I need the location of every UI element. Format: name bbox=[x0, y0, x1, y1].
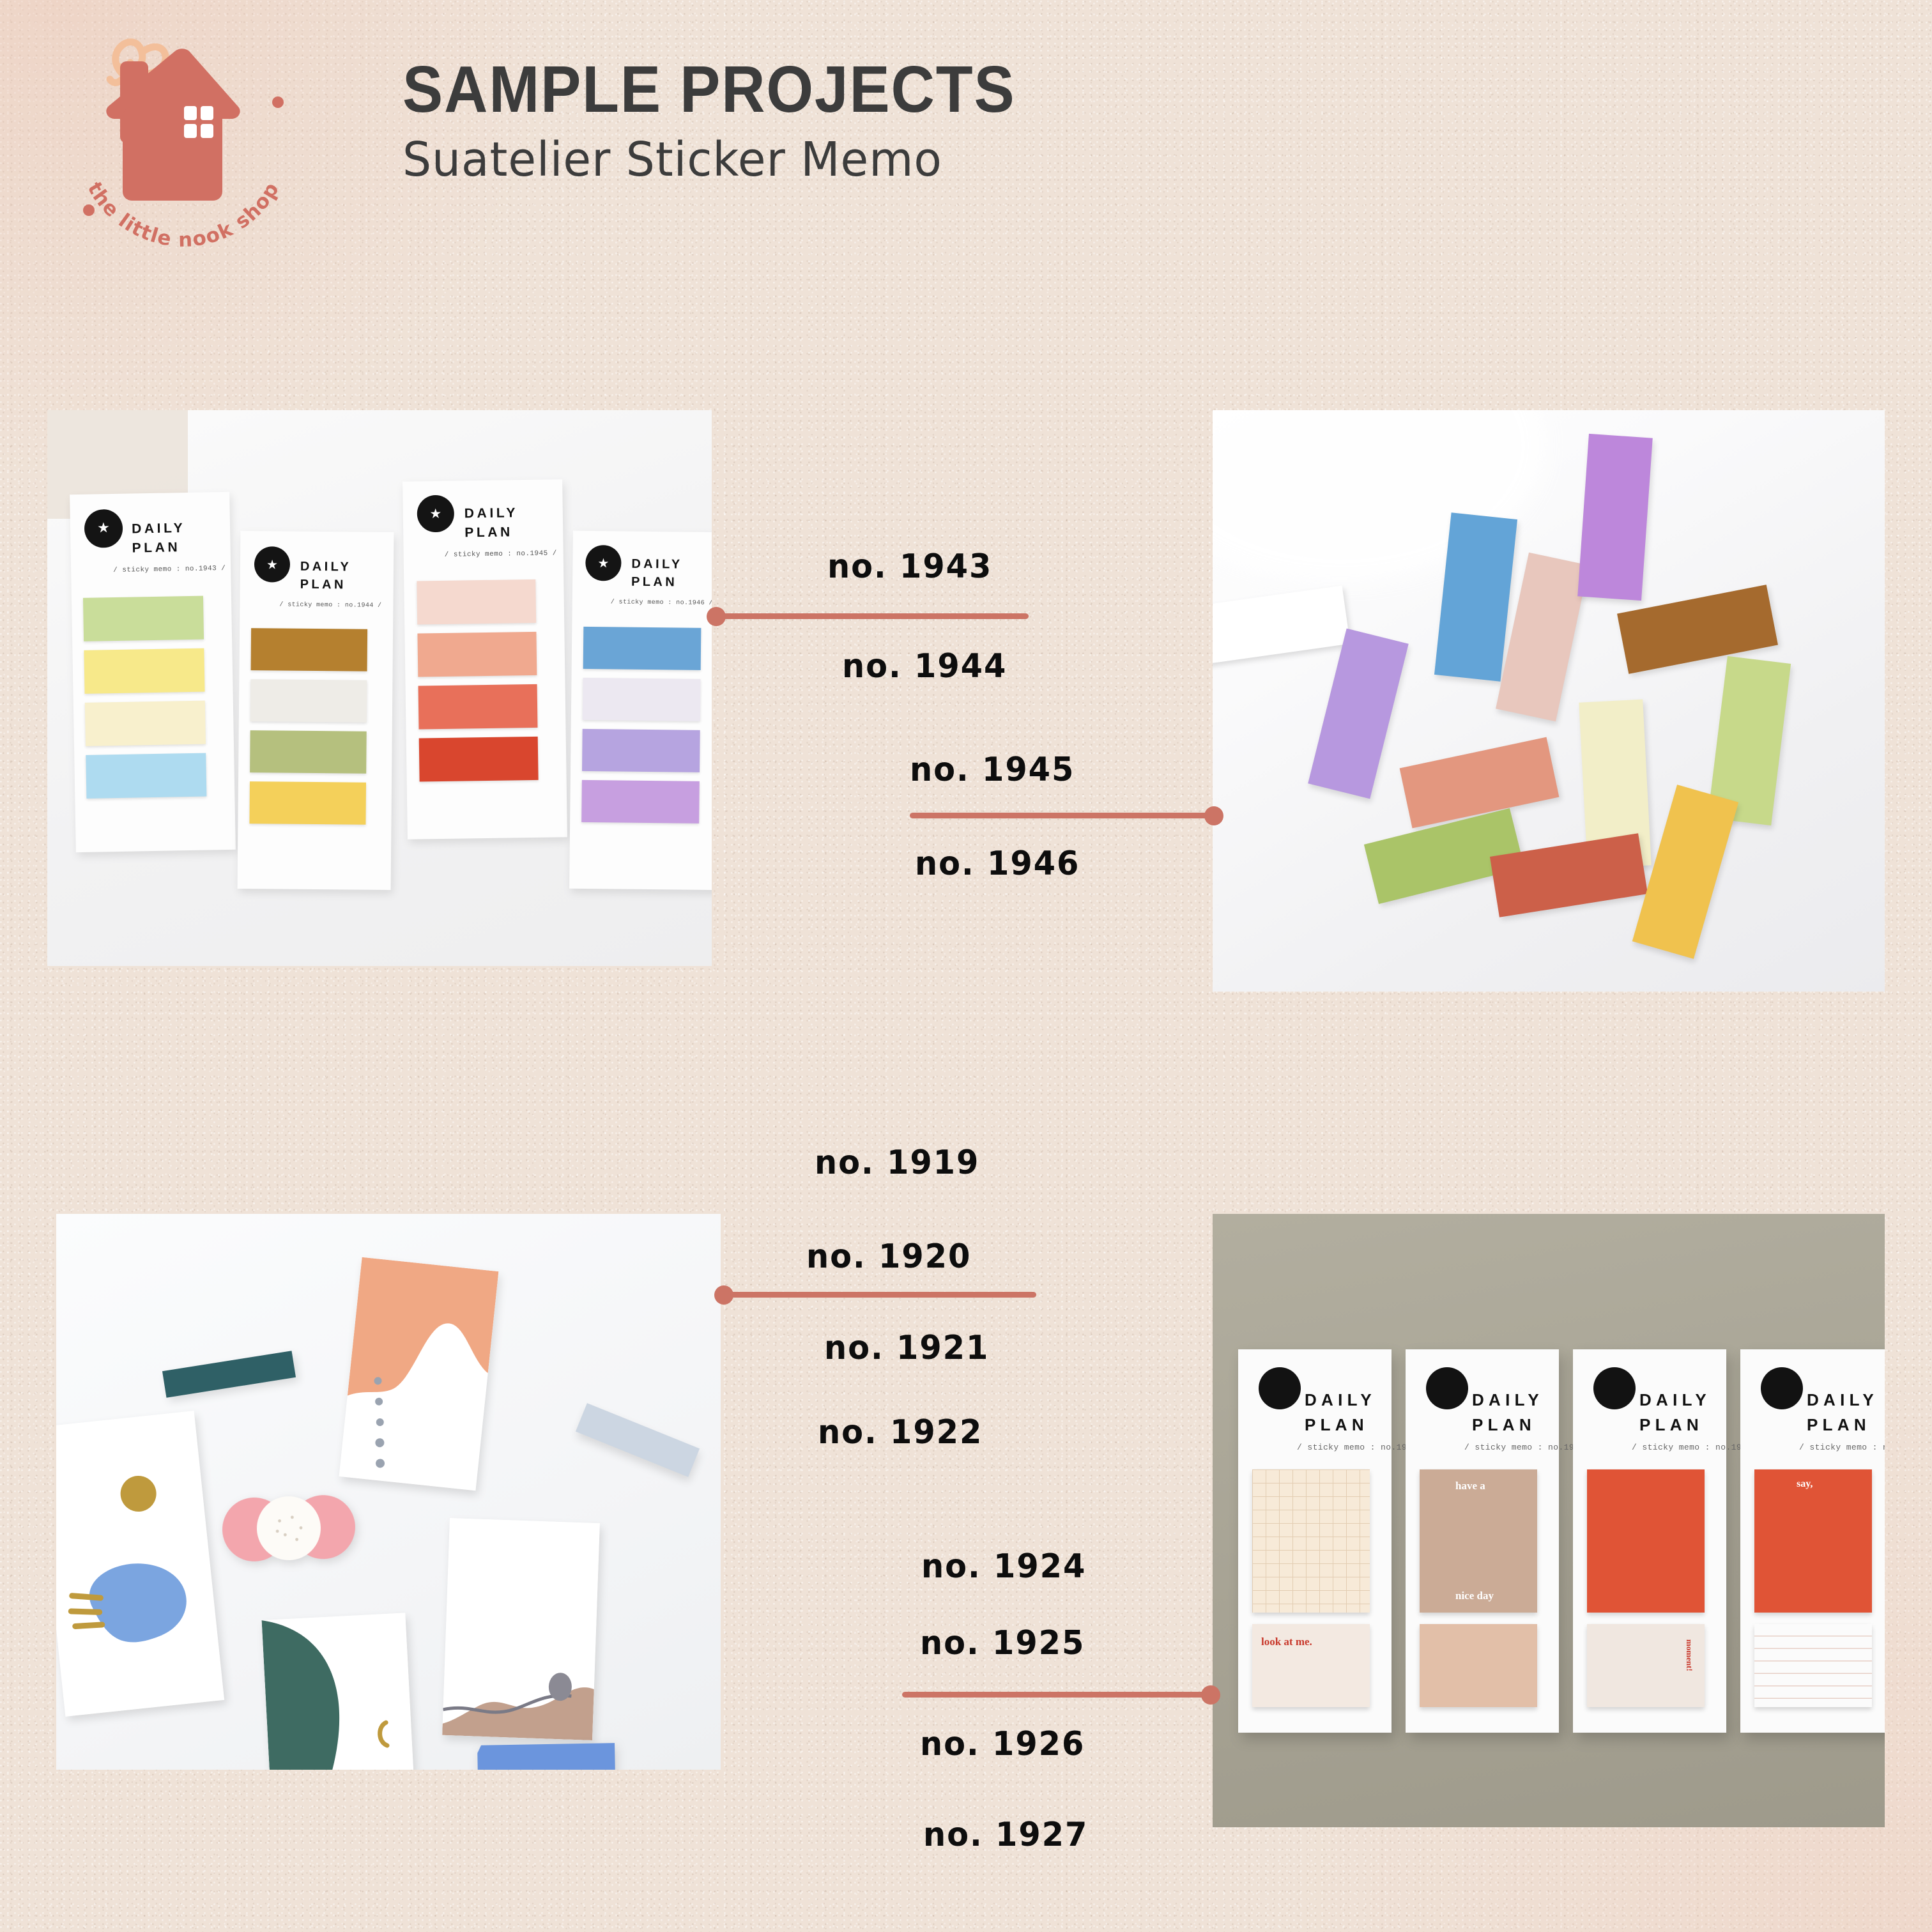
color-strip bbox=[86, 753, 206, 799]
pack-1946: ★ DAILY PLAN / sticky memo : no.1946 / bbox=[569, 531, 712, 891]
pack-title: DAILY bbox=[464, 505, 519, 521]
memo-strip-pink-circles bbox=[220, 1492, 360, 1564]
br-pack-1926: DAILYPLAN / sticky memo : no.1926 / mome… bbox=[1573, 1349, 1726, 1733]
memo-sheet-text: say, bbox=[1797, 1478, 1813, 1490]
logo-dot-left bbox=[83, 204, 95, 216]
suatelier-badge-icon bbox=[1259, 1367, 1301, 1409]
suatelier-badge-icon bbox=[1761, 1367, 1803, 1409]
color-strip bbox=[251, 628, 368, 671]
color-strip bbox=[250, 730, 367, 774]
photo-sticky-memo-packs: ★ DAILY PLAN / sticky memo : no.1943 / ★… bbox=[47, 410, 712, 966]
color-strip bbox=[83, 596, 204, 641]
color-strip bbox=[250, 679, 367, 723]
photo-illustrated-memo-pads bbox=[56, 1214, 721, 1770]
pack-1945: ★ DAILY PLAN / sticky memo : no.1945 / bbox=[402, 479, 567, 839]
suatelier-badge-icon: ★ bbox=[254, 546, 290, 582]
callout-label-1922: no. 1922 bbox=[818, 1413, 983, 1452]
color-strip bbox=[84, 648, 204, 694]
callout-label-1943: no. 1943 bbox=[827, 548, 992, 586]
pack-code: / sticky memo : no.1946 / bbox=[611, 599, 712, 607]
leader-line-1920 bbox=[723, 1292, 1036, 1298]
memo-sheet-red bbox=[1587, 1469, 1705, 1613]
color-strip bbox=[418, 684, 538, 730]
logo-dot-right bbox=[272, 96, 284, 108]
memo-pad-green-arc bbox=[262, 1613, 417, 1770]
page-subtitle: Suatelier Sticker Memo bbox=[402, 136, 1042, 183]
memo-sheet-text-bottom: nice day bbox=[1455, 1590, 1494, 1602]
leader-line-1945 bbox=[910, 813, 1218, 818]
pack-title: DAILYPLAN bbox=[1472, 1388, 1544, 1437]
color-strip bbox=[582, 729, 700, 772]
callout-label-1925: no. 1925 bbox=[920, 1624, 1085, 1662]
brand-logo: the little nook shop bbox=[40, 11, 327, 280]
pack-title: DAILY bbox=[631, 557, 682, 572]
callout-label-1944: no. 1944 bbox=[842, 647, 1007, 686]
memo-sheet-red: say, bbox=[1754, 1469, 1872, 1613]
leader-line-1925 bbox=[902, 1692, 1209, 1698]
memo-pad-landscape bbox=[442, 1518, 600, 1740]
photo-daily-plan-packs-taupe: DAILYPLAN / sticky memo : no.1924 / look… bbox=[1213, 1214, 1885, 1827]
color-strip bbox=[249, 781, 366, 825]
color-strip bbox=[417, 632, 537, 677]
suatelier-badge-icon: ★ bbox=[84, 509, 123, 548]
photo-scattered-strips bbox=[1213, 410, 1885, 992]
pack-title: DAILYPLAN bbox=[1807, 1388, 1878, 1437]
callout-label-1927: no. 1927 bbox=[923, 1816, 1088, 1854]
callout-label-1926: no. 1926 bbox=[920, 1725, 1085, 1763]
pack-title-2: PLAN bbox=[464, 525, 513, 540]
color-strip bbox=[581, 780, 700, 824]
memo-sheet-lined bbox=[1754, 1624, 1872, 1707]
memo-strip-blue-wave bbox=[477, 1743, 616, 1770]
leader-line-1943 bbox=[716, 613, 1029, 619]
memo-sheet-grid bbox=[1252, 1469, 1370, 1613]
suatelier-badge-icon: ★ bbox=[417, 495, 454, 533]
house-icon bbox=[106, 49, 240, 201]
br-pack-1925: DAILYPLAN / sticky memo : no.1925 / have… bbox=[1406, 1349, 1559, 1733]
leader-dot-1945 bbox=[1204, 806, 1223, 825]
callout-label-1946: no. 1946 bbox=[915, 845, 1080, 883]
strip-purple bbox=[1577, 434, 1653, 601]
memo-sheet-text: look at me. bbox=[1261, 1636, 1312, 1648]
callout-label-1924: no. 1924 bbox=[921, 1547, 1086, 1586]
color-strip bbox=[417, 579, 536, 625]
callout-label-1919: no. 1919 bbox=[815, 1144, 979, 1182]
page-title: SAMPLE PROJECTS bbox=[402, 56, 1016, 122]
memo-sheet-note: moment! bbox=[1587, 1624, 1705, 1707]
pack-code: / sticky memo : no.1927 / bbox=[1799, 1443, 1885, 1452]
pack-1944: ★ DAILY PLAN / sticky memo : no.1944 / bbox=[238, 531, 394, 890]
memo-pad-peach-wave bbox=[339, 1257, 499, 1491]
pack-code: / sticky memo : no.1943 / bbox=[113, 565, 226, 574]
suatelier-badge-icon: ★ bbox=[585, 545, 622, 581]
pack-title-2: PLAN bbox=[132, 540, 180, 556]
pack-code: / sticky memo : no.1944 / bbox=[279, 602, 381, 609]
pack-title: DAILY bbox=[132, 521, 186, 537]
callout-label-1921: no. 1921 bbox=[824, 1329, 989, 1367]
memo-sheet-text: moment! bbox=[1684, 1639, 1694, 1671]
color-strip bbox=[583, 627, 701, 670]
leader-dot-1925 bbox=[1201, 1685, 1220, 1705]
color-strip bbox=[419, 737, 539, 782]
br-pack-1924: DAILYPLAN / sticky memo : no.1924 / look… bbox=[1238, 1349, 1391, 1733]
color-strip bbox=[85, 701, 206, 746]
memo-sheet-note bbox=[1420, 1624, 1537, 1707]
br-pack-1927: DAILYPLAN / sticky memo : no.1927 / say, bbox=[1740, 1349, 1885, 1733]
pack-title: DAILYPLAN bbox=[1639, 1388, 1711, 1437]
header-block: SAMPLE PROJECTS Suatelier Sticker Memo bbox=[402, 56, 1069, 183]
pack-1943: ★ DAILY PLAN / sticky memo : no.1943 / bbox=[70, 492, 236, 852]
suatelier-badge-icon bbox=[1593, 1367, 1636, 1409]
color-strip bbox=[583, 678, 701, 721]
callout-label-1920: no. 1920 bbox=[806, 1238, 971, 1276]
callout-label-1945: no. 1945 bbox=[910, 751, 1075, 789]
pack-title-2: PLAN bbox=[300, 578, 346, 593]
memo-sheet-tan: have a nice day bbox=[1420, 1469, 1537, 1613]
pack-code: / sticky memo : no.1945 / bbox=[445, 549, 557, 558]
suatelier-badge-icon bbox=[1426, 1367, 1468, 1409]
pack-title-2: PLAN bbox=[631, 575, 677, 590]
pack-title: DAILY bbox=[300, 560, 351, 575]
memo-sheet-text-top: have a bbox=[1455, 1480, 1485, 1492]
memo-sheet-note: look at me. bbox=[1252, 1624, 1370, 1707]
pack-title: DAILYPLAN bbox=[1305, 1388, 1376, 1437]
